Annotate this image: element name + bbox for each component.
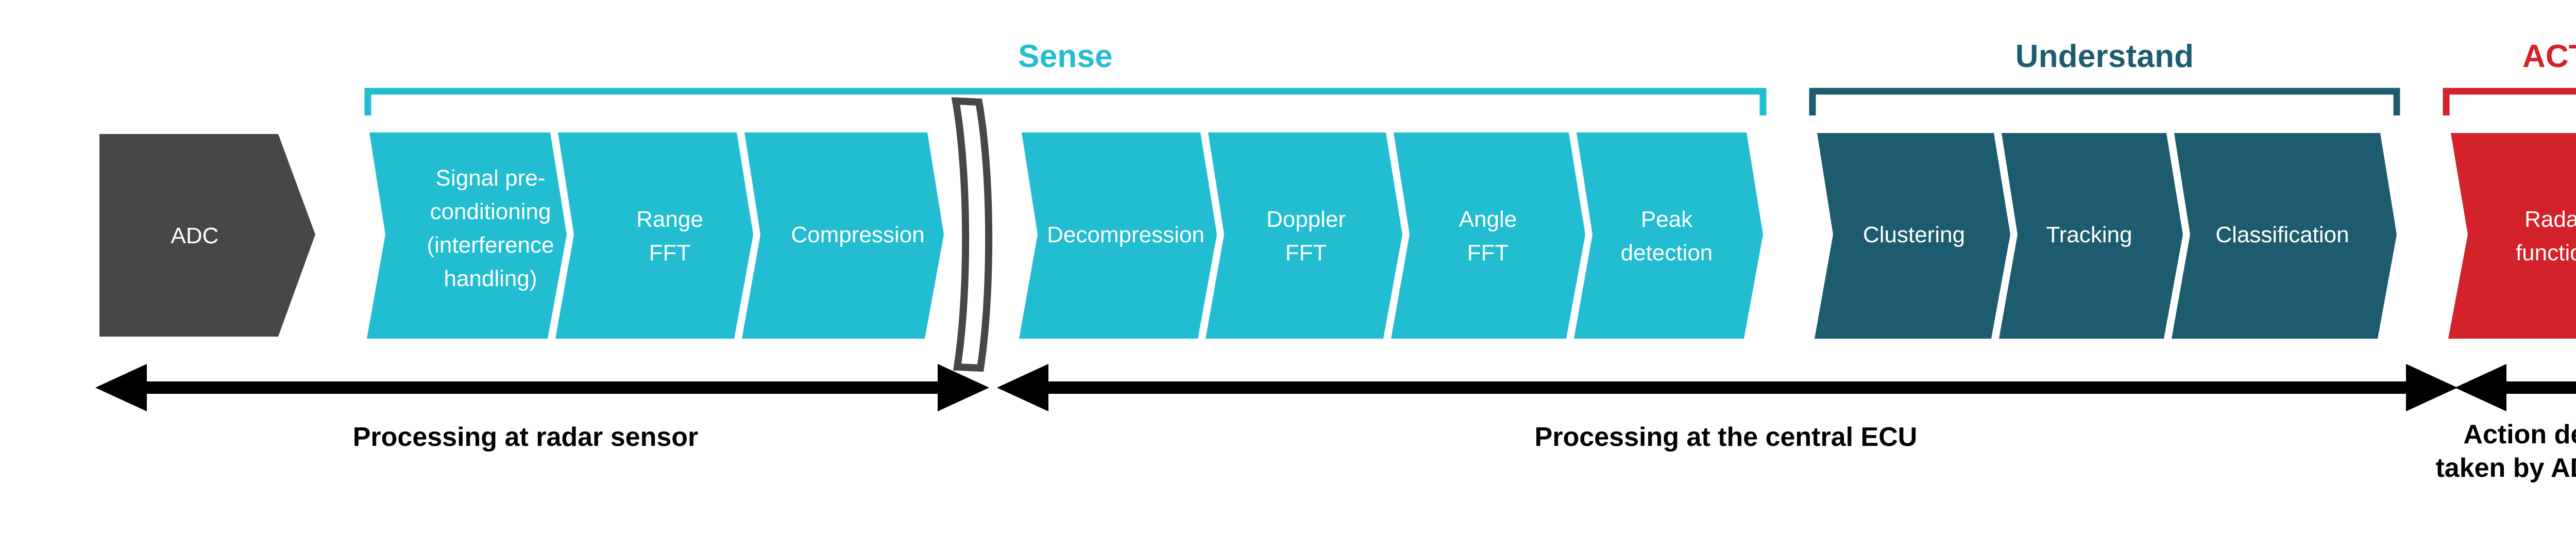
bracket-understand xyxy=(1812,91,2397,115)
block-doppler-fft-shape xyxy=(1206,132,1402,339)
axis-label-central-ecu: Processing at the central ECU xyxy=(1535,422,1918,452)
block-adc[interactable]: ADC xyxy=(99,134,315,337)
block-doppler-fft-line-2: FFT xyxy=(1285,240,1327,265)
bracket-act xyxy=(2446,91,2576,115)
block-tracking-line-1: Tracking xyxy=(2046,222,2132,247)
span-arrow-central-ecu xyxy=(997,364,2458,411)
block-peak-detection-shape xyxy=(1574,132,1763,339)
break-symbol-shape xyxy=(956,101,989,368)
block-range-fft-line-2: FFT xyxy=(649,240,691,265)
block-peak-detection[interactable]: Peak detection xyxy=(1574,132,1763,339)
block-clustering[interactable]: Clustering xyxy=(1815,133,2010,339)
block-decompression-line-1: Decompression xyxy=(1047,222,1205,247)
span-arrow-radar-sensor-shaft xyxy=(144,381,940,394)
span-arrow-adas-ecu xyxy=(2455,364,2576,411)
block-decompression[interactable]: Decompression xyxy=(1019,132,1217,339)
block-adc-label: ADC xyxy=(171,223,219,248)
block-radar-function-shape xyxy=(2448,133,2576,339)
span-arrow-central-ecu-head-left xyxy=(997,364,1048,411)
stage-title-act: ACT xyxy=(2522,39,2576,74)
break-symbol xyxy=(956,101,989,368)
block-compression-line-1: Compression xyxy=(791,222,924,247)
block-signal-pre-conditioning[interactable]: Signal pre- conditioning (interference h… xyxy=(367,132,567,339)
block-peak-detection-line-2: detection xyxy=(1621,240,1713,265)
block-signal-pre-conditioning-line-4: handling) xyxy=(444,266,537,291)
block-radar-function-line-1: Radar xyxy=(2524,207,2576,232)
block-doppler-fft-line-1: Doppler xyxy=(1266,207,1346,232)
block-range-fft-shape xyxy=(555,132,753,339)
block-signal-pre-conditioning-line-2: conditioning xyxy=(430,199,551,224)
diagram-canvas: Sense Understand ACT ADC Signal pre- con… xyxy=(0,0,2576,550)
block-range-fft[interactable]: Range FFT xyxy=(555,132,753,339)
stage-title-sense: Sense xyxy=(1018,39,1113,74)
block-peak-detection-line-1: Peak xyxy=(1641,207,1693,232)
block-angle-fft-shape xyxy=(1391,132,1585,339)
span-arrow-central-ecu-shaft xyxy=(1046,381,2409,394)
block-classification-line-1: Classification xyxy=(2215,222,2349,247)
block-angle-fft-line-2: FFT xyxy=(1467,240,1509,265)
block-radar-function-line-2: function xyxy=(2516,240,2576,265)
block-doppler-fft[interactable]: Doppler FFT xyxy=(1206,132,1402,339)
span-arrow-radar-sensor-head-left xyxy=(95,364,147,411)
block-angle-fft-line-1: Angle xyxy=(1459,207,1517,232)
block-classification[interactable]: Classification xyxy=(2172,133,2397,339)
span-arrow-central-ecu-head-right xyxy=(2406,364,2458,411)
block-signal-pre-conditioning-line-1: Signal pre- xyxy=(436,165,546,191)
stage-title-understand: Understand xyxy=(2015,39,2194,74)
span-arrow-adas-ecu-head-left xyxy=(2455,364,2506,411)
block-range-fft-line-1: Range xyxy=(636,207,703,232)
radar-processing-chain-diagram: Sense Understand ACT ADC Signal pre- con… xyxy=(0,0,2576,550)
span-arrow-adas-ecu-shaft xyxy=(2504,381,2576,394)
block-signal-pre-conditioning-line-3: (interference xyxy=(427,232,554,258)
span-arrow-radar-sensor xyxy=(95,364,989,411)
block-angle-fft[interactable]: Angle FFT xyxy=(1391,132,1585,339)
axis-label-adas-ecu-line-2: taken by ADAS ECU xyxy=(2435,453,2576,483)
axis-label-radar-sensor: Processing at radar sensor xyxy=(353,422,699,452)
block-tracking[interactable]: Tracking xyxy=(1999,133,2183,339)
axis-label-adas-ecu-line-1: Action decision xyxy=(2463,420,2576,449)
bracket-sense xyxy=(368,91,1763,115)
block-radar-function[interactable]: Radar function xyxy=(2448,133,2576,339)
block-clustering-line-1: Clustering xyxy=(1863,222,1965,247)
block-compression[interactable]: Compression xyxy=(742,132,944,339)
